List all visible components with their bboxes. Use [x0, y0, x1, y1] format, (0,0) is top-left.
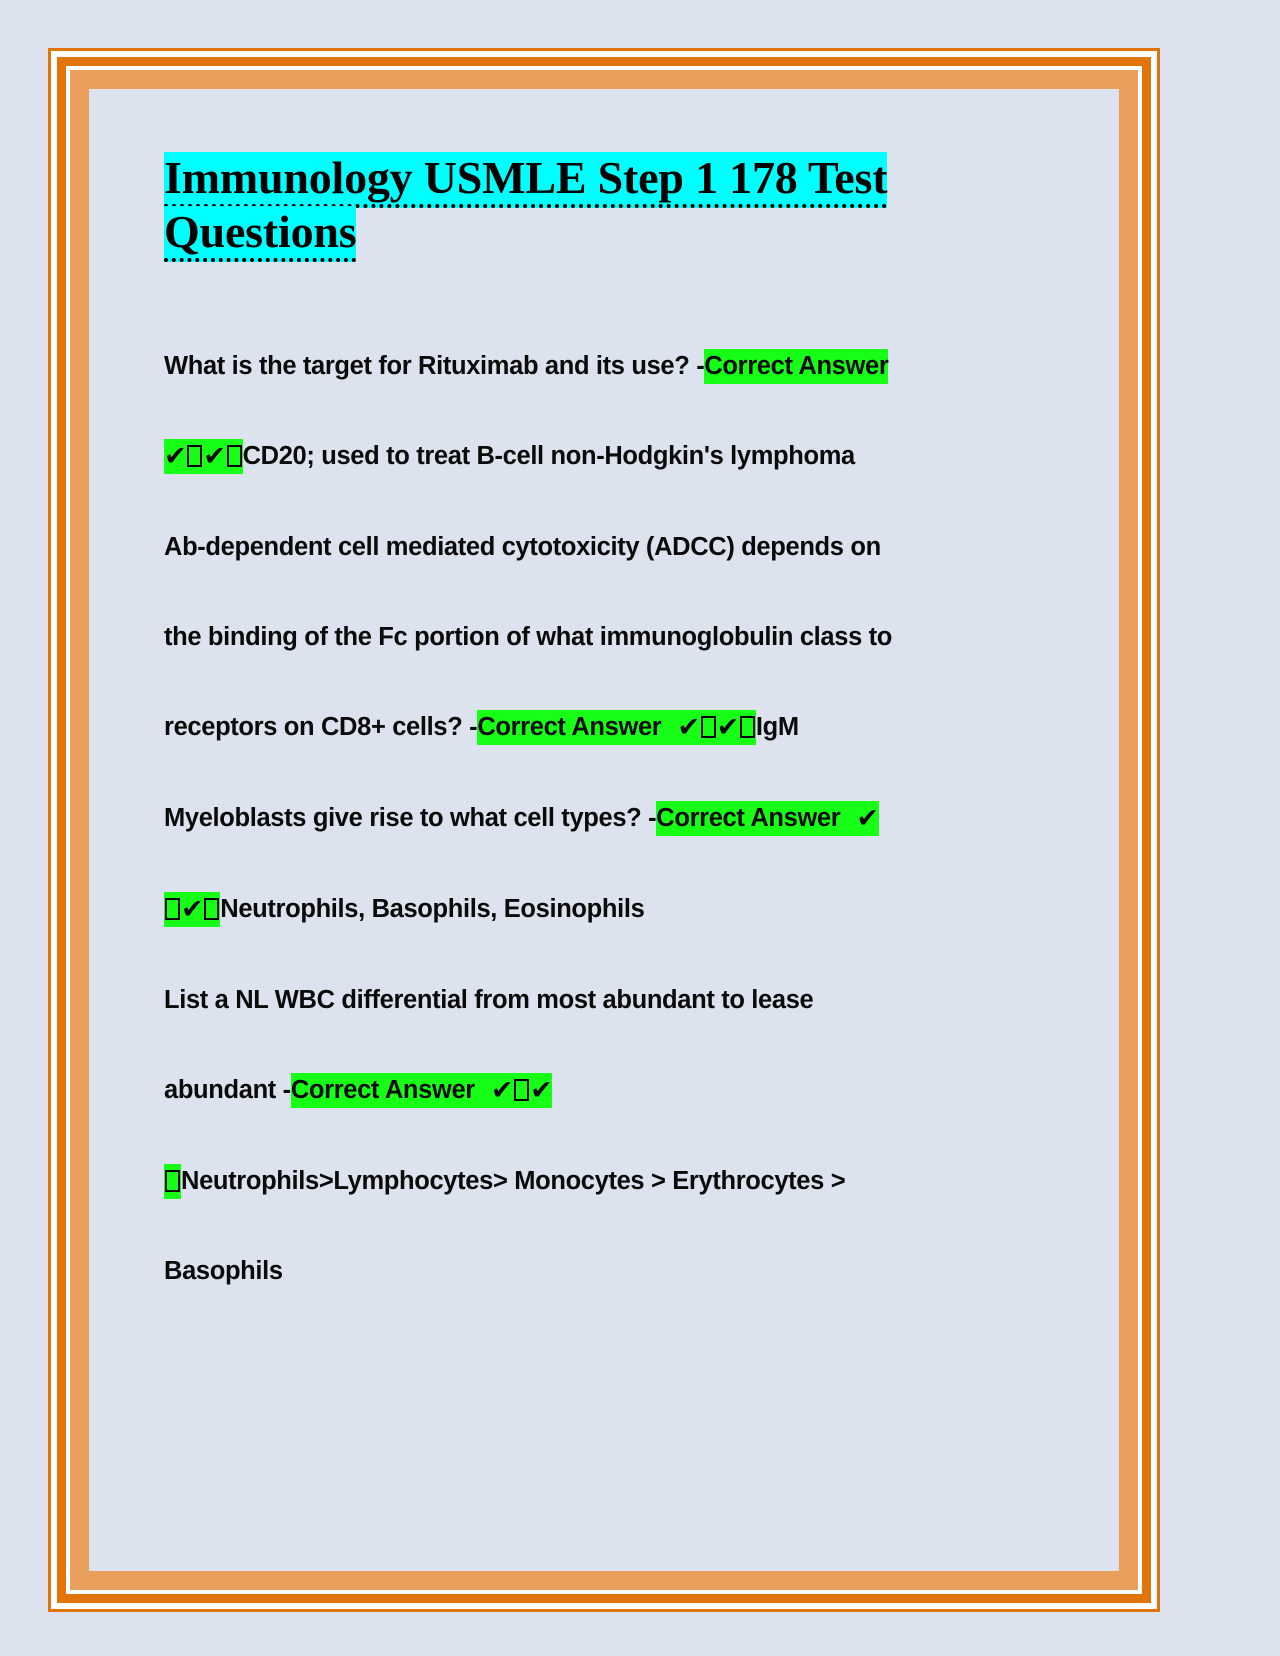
- qa-block-4: List a NL WBC differential from most abu…: [164, 955, 1094, 1316]
- check-icon: ✔: [181, 894, 203, 925]
- missing-glyph-box-icon: [701, 716, 716, 738]
- document-content: Immunology USMLE Step 1 178 Test Questio…: [164, 151, 1094, 1316]
- qa-2-question-line-3: receptors on CD8+ cells? -Correct Answer…: [164, 682, 1094, 773]
- qa-block-3: Myeloblasts give rise to what cell types…: [164, 773, 1094, 955]
- qa-2-correct-answer-badge: Correct Answer✔✔: [477, 710, 756, 745]
- missing-glyph-box-icon: [514, 1079, 529, 1101]
- qa-4-answer-label: Correct Answer: [291, 1076, 475, 1104]
- check-icon: ✔: [491, 1075, 513, 1106]
- check-icon: ✔: [164, 441, 186, 472]
- qa-3-question-text: Myeloblasts give rise to what cell types…: [164, 804, 656, 832]
- qa-3-answer-label: Correct Answer: [656, 804, 840, 832]
- qa-4-correct-answer-badge: Correct Answer✔✔: [291, 1073, 553, 1108]
- check-icon: ✔: [856, 803, 878, 834]
- qa-4-answer-line-2: Basophils: [164, 1226, 1094, 1316]
- qa-4-glyph-run: [164, 1164, 181, 1199]
- qa-4-answer-line-1: Neutrophils>Lymphocytes> Monocytes > Ery…: [164, 1136, 1094, 1226]
- qa-1-question-line: What is the target for Rituximab and its…: [164, 321, 1094, 411]
- qa-3-correct-answer-badge: Correct Answer✔: [656, 801, 878, 836]
- decorative-page-frame: Immunology USMLE Step 1 178 Test Questio…: [48, 48, 1160, 1612]
- qa-block-2: Ab-dependent cell mediated cytotoxicity …: [164, 502, 1094, 773]
- frame-band-outer: Immunology USMLE Step 1 178 Test Questio…: [54, 54, 1154, 1606]
- qa-3-answer-line: ✔Neutrophils, Basophils, Eosinophils: [164, 864, 1094, 955]
- qa-2-question-line-1: Ab-dependent cell mediated cytotoxicity …: [164, 502, 1094, 592]
- missing-glyph-box-icon: [740, 716, 755, 738]
- qa-4-question-line-2: abundant -Correct Answer✔✔: [164, 1045, 1094, 1136]
- check-icon: ✔: [530, 1075, 552, 1106]
- missing-glyph-box-icon: [165, 1170, 180, 1192]
- qa-block-1: What is the target for Rituximab and its…: [164, 321, 1094, 502]
- page-title: Immunology USMLE Step 1 178 Test Questio…: [164, 151, 1094, 259]
- missing-glyph-box-icon: [204, 898, 219, 920]
- missing-glyph-box-icon: [187, 445, 202, 467]
- qa-2-question-line-2: the binding of the Fc portion of what im…: [164, 592, 1094, 682]
- page-title-line-1: Immunology USMLE Step 1 178 Test: [164, 152, 887, 208]
- qa-4-question-tail: abundant -: [164, 1076, 291, 1104]
- qa-1-glyph-run: ✔✔: [164, 439, 243, 474]
- page-title-line-2: Questions: [164, 206, 356, 262]
- qa-3-question-line: Myeloblasts give rise to what cell types…: [164, 773, 1094, 864]
- qa-4-answer-text-a: Neutrophils>Lymphocytes> Monocytes > Ery…: [181, 1167, 845, 1195]
- qa-3-glyph-run: ✔: [164, 892, 220, 927]
- missing-glyph-box-icon: [227, 445, 242, 467]
- missing-glyph-box-icon: [165, 898, 180, 920]
- qa-2-answer-label: Correct Answer: [477, 713, 661, 741]
- qa-3-answer-text: Neutrophils, Basophils, Eosinophils: [220, 895, 644, 923]
- check-icon: ✔: [717, 712, 739, 743]
- qa-1-correct-answer-badge: Correct Answer: [704, 349, 888, 384]
- qa-1-answer-line: ✔✔CD20; used to treat B-cell non-Hodgkin…: [164, 411, 1094, 502]
- qa-2-question-tail: receptors on CD8+ cells? -: [164, 713, 477, 741]
- document-page: Immunology USMLE Step 1 178 Test Questio…: [87, 87, 1121, 1573]
- check-icon: ✔: [677, 712, 699, 743]
- check-icon: ✔: [203, 441, 225, 472]
- qa-2-answer-text: IgM: [756, 713, 799, 741]
- qa-1-question-text: What is the target for Rituximab and its…: [164, 352, 704, 380]
- qa-4-question-line-1: List a NL WBC differential from most abu…: [164, 955, 1094, 1045]
- frame-band-inner: Immunology USMLE Step 1 178 Test Questio…: [66, 66, 1142, 1594]
- qa-1-answer-text: CD20; used to treat B-cell non-Hodgkin's…: [243, 442, 855, 470]
